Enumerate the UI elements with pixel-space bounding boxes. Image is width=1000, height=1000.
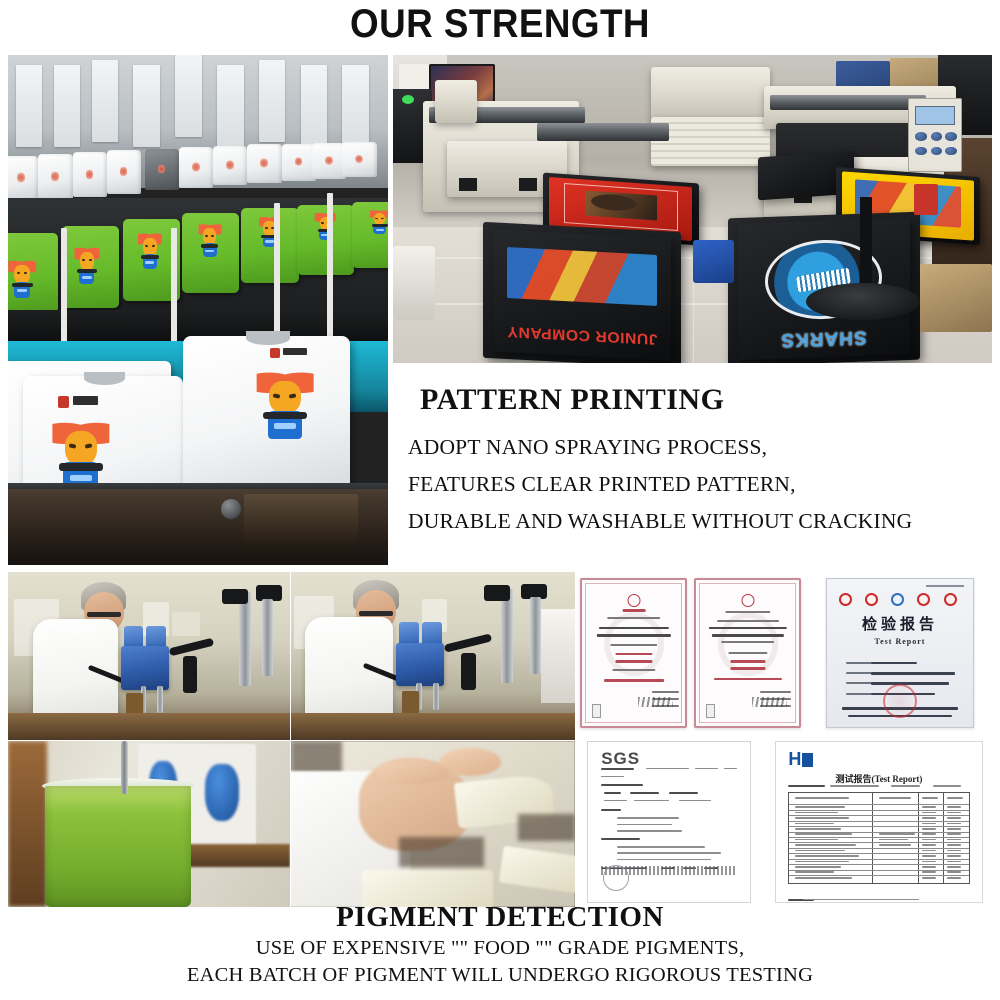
ink-module-upper	[651, 67, 771, 119]
hanging-paper	[259, 60, 286, 142]
blue-equipment	[205, 764, 239, 820]
stand-post	[239, 592, 250, 686]
printer-stand-post	[860, 197, 872, 296]
bull-mascot-print	[138, 230, 162, 274]
safety-glasses	[87, 612, 121, 617]
bull-mascot-print	[8, 257, 36, 303]
bull-mascot-print	[369, 208, 388, 238]
hanging-paper	[92, 60, 119, 142]
lab-bench	[8, 713, 290, 740]
beaker-with-green-liquid	[45, 786, 192, 907]
background-blur-left	[8, 741, 47, 907]
h-test-report: H 测试报告(Test Report)	[766, 736, 992, 908]
lab-bench	[291, 713, 575, 740]
pattern-printing-section: PATTERN PRINTING ADOPT NANO SPRAYING PRO…	[400, 383, 1000, 558]
lab-coat-edge	[541, 609, 575, 703]
printer-gantry-right	[770, 95, 926, 110]
h-results-table	[788, 792, 969, 885]
machine-knob	[221, 499, 241, 519]
hanging-paper	[342, 65, 369, 147]
lab-mixer	[396, 643, 444, 687]
lab-technician-photo-1	[8, 572, 290, 740]
drawer-foot	[519, 178, 537, 190]
stand-knob	[222, 589, 247, 604]
hand-fabric-photo	[291, 741, 575, 907]
dtg-printer-photo: JUNIOR COMPANY SHARKS	[393, 55, 992, 363]
h-logo: H	[788, 749, 813, 770]
finger	[376, 761, 450, 784]
pattern-printing-line-2: FEATURES CLEAR PRINTED PATTERN,	[408, 472, 796, 497]
green-pigment-beaker-photo	[8, 741, 290, 907]
sgs-logo: SGS	[601, 749, 640, 769]
bull-mascot-print	[198, 221, 221, 262]
bull-mascot-print	[74, 244, 99, 290]
bull-mascot-print	[256, 366, 313, 449]
tshirt-print-text: JUNIOR COMPANY	[499, 315, 663, 355]
table-shelf	[244, 494, 358, 545]
ink-module-lower	[651, 117, 771, 166]
certificate-english	[694, 578, 801, 727]
stirring-rod	[121, 741, 128, 794]
blue-container	[693, 240, 735, 283]
cert-logo-icon	[891, 593, 904, 606]
screen-printing-photo	[8, 55, 388, 565]
pigment-detection-section: PIGMENT DETECTION USE OF EXPENSIVE "" FO…	[0, 900, 1000, 1000]
printer-control-panel[interactable]	[908, 98, 962, 172]
printhead-carriage	[435, 80, 477, 123]
ccc-logo-icon	[944, 593, 957, 606]
report-number	[926, 585, 964, 587]
mixer-shaft	[433, 683, 439, 710]
tshirt-print-text: SHARKS	[752, 324, 897, 351]
safety-glasses	[359, 611, 393, 616]
tshirt-black-junior: JUNIOR COMPANY	[493, 230, 671, 361]
ccc-logo-icon	[917, 593, 930, 606]
stand-post	[530, 597, 541, 674]
hanging-paper	[16, 65, 43, 147]
pigment-detection-heading: PIGMENT DETECTION	[0, 900, 1000, 935]
official-red-stamp	[883, 684, 917, 718]
sgs-sheet: SGS	[587, 741, 751, 903]
stand-post	[501, 589, 512, 683]
ccc-logo-icon	[839, 593, 852, 606]
stand-post	[262, 599, 273, 676]
cardboard-box	[920, 264, 992, 332]
cross-rail	[537, 123, 669, 141]
sample-bottle	[402, 691, 419, 715]
report-sheet: 检验报告 Test Report	[826, 578, 973, 727]
printed-tshirt	[183, 336, 350, 489]
report-title-en: Test Report	[827, 637, 972, 646]
page-title: OUR STRENGTH	[40, 0, 960, 48]
platen-black-junior: JUNIOR COMPANY	[483, 222, 681, 363]
hanging-paper	[301, 65, 328, 147]
mixer-shaft	[157, 686, 163, 713]
hanging-paper	[217, 65, 244, 147]
paint-bucket	[393, 246, 435, 320]
ccc-logo-icon	[865, 593, 878, 606]
report-title-cn: 检验报告	[827, 613, 972, 634]
iso-certificates	[578, 572, 806, 734]
h-report-title: 测试报告(Test Report)	[776, 772, 982, 785]
pigment-detection-line-1: USE OF EXPENSIVE "" FOOD "" GRADE PIGMEN…	[0, 935, 1000, 963]
h-logo-letter: H	[788, 749, 801, 769]
poster-page: OUR STRENGTH	[0, 0, 1000, 1000]
pigment-detection-line-2: EACH BATCH OF PIGMENT WILL UNDERGO RIGOR…	[0, 962, 1000, 990]
hanging-paper	[175, 55, 202, 137]
certificate-chinese	[580, 578, 687, 727]
lab-mixer	[121, 646, 169, 690]
clamp-post	[461, 653, 475, 690]
pattern-printing-line-1: ADOPT NANO SPRAYING PROCESS,	[408, 435, 767, 460]
pattern-printing-line-3: DURABLE AND WASHABLE WITHOUT CRACKING	[408, 509, 912, 534]
red-tool	[914, 184, 938, 215]
clamp-post	[183, 656, 197, 693]
h-report-sheet: H 测试报告(Test Report)	[775, 741, 983, 903]
drawer-foot	[459, 178, 477, 190]
hanging-paper	[54, 65, 81, 147]
lab-technician-photo-2	[291, 572, 575, 740]
printer-stand-base	[806, 283, 920, 320]
pattern-printing-heading: PATTERN PRINTING	[420, 383, 724, 417]
stand-knob	[484, 585, 510, 600]
hanging-paper	[133, 65, 160, 147]
sgs-stamp	[603, 865, 629, 891]
inspection-test-report: 检验报告 Test Report	[808, 572, 992, 734]
sgs-test-report: SGS	[578, 736, 764, 908]
